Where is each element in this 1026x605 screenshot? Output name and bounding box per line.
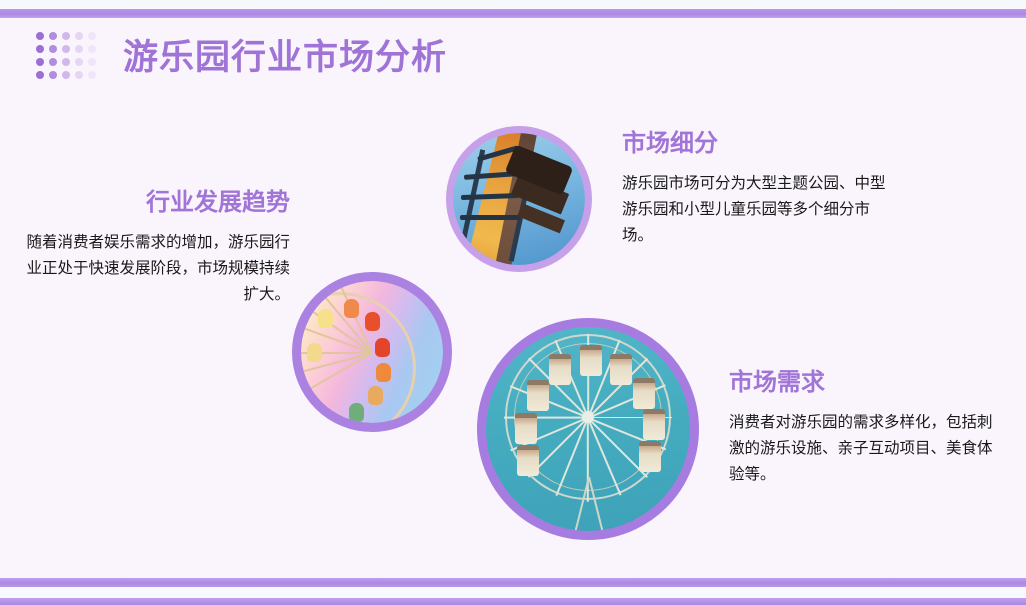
ferris-wheel-colorful-photo [292, 272, 452, 432]
wheel-gondola [307, 343, 322, 362]
coaster-beam [460, 215, 520, 220]
section-trend-body: 随着消费者娱乐需求的增加，游乐园行业正处于快速发展阶段，市场规模持续扩大。 [22, 230, 290, 307]
wheel-gondola [375, 338, 390, 357]
wheel-gondola [517, 445, 539, 476]
roller-coaster-photo-inner [453, 133, 585, 265]
section-demand-body: 消费者对游乐园的需求多样化，包括刺激的游乐设施、亲子互动项目、美食体验等。 [729, 410, 995, 487]
section-demand: 市场需求 消费者对游乐园的需求多样化，包括刺激的游乐设施、亲子互动项目、美食体验… [729, 370, 995, 487]
wheel-spoke [587, 418, 589, 502]
wheel-gondola [633, 378, 655, 409]
slide-canvas: 游乐园行业市场分析 [0, 0, 1026, 605]
section-segment: 市场细分 游乐园市场可分为大型主题公园、中型游乐园和小型儿童乐园等多个细分市场。 [622, 131, 894, 248]
wheel-gondola [639, 441, 661, 472]
ferris-wheel-large-photo-inner [486, 327, 690, 531]
wheel-gondola [610, 354, 632, 385]
section-trend-heading: 行业发展趋势 [22, 190, 290, 216]
page-title: 游乐园行业市场分析 [123, 40, 447, 75]
top-accent-rule [0, 9, 1026, 18]
wheel-gondola [515, 413, 537, 444]
section-trend: 行业发展趋势 随着消费者娱乐需求的增加，游乐园行业正处于快速发展阶段，市场规模持… [22, 190, 290, 307]
top-edge-strip [0, 0, 1026, 9]
bottom-accent-rule-upper [0, 578, 1026, 587]
section-segment-body: 游乐园市场可分为大型主题公园、中型游乐园和小型儿童乐园等多个细分市场。 [622, 171, 894, 248]
ferris-wheel-colorful-photo-inner [301, 281, 443, 423]
wheel-gondola [349, 403, 364, 422]
slide-header: 游乐园行业市场分析 [36, 30, 447, 84]
wheel-gondola [549, 354, 571, 385]
dot-grid-decoration-icon [36, 32, 101, 84]
wheel-gondola [318, 309, 333, 328]
wheel-gondola [376, 363, 391, 382]
wheel-gondola [365, 312, 380, 331]
bottom-edge-strip [0, 587, 1026, 598]
wheel-gondola [643, 409, 665, 440]
wheel-gondola [527, 380, 549, 411]
wheel-hub [582, 411, 594, 423]
bottom-accent-rule-lower [0, 598, 1026, 605]
wheel-gondola [344, 299, 359, 318]
ferris-wheel-large-photo [477, 318, 699, 540]
wheel-gondola [368, 386, 383, 405]
roller-coaster-photo [446, 126, 592, 272]
section-demand-heading: 市场需求 [729, 370, 995, 396]
wheel-gondola [580, 345, 602, 376]
section-segment-heading: 市场细分 [622, 131, 894, 157]
